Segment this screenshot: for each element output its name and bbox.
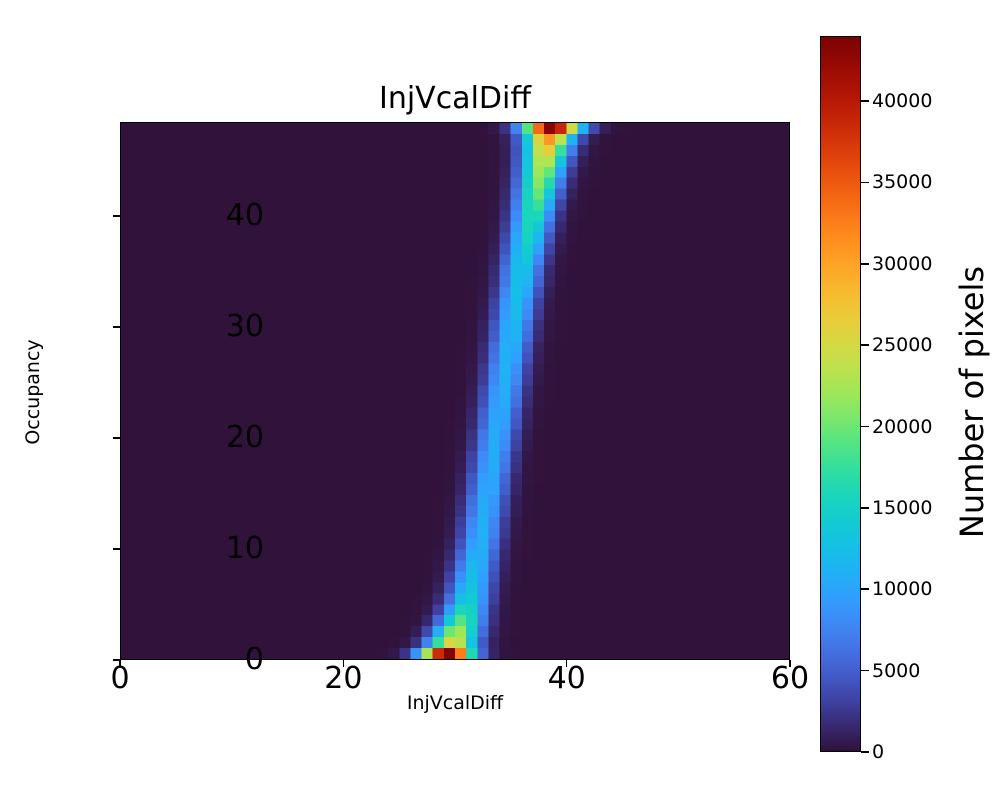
colorbar-tick-mark	[861, 751, 869, 753]
x-tick-label: 40	[548, 662, 586, 696]
colorbar-gradient	[821, 37, 860, 751]
y-tick-mark	[113, 548, 120, 550]
colorbar-label: Number of pixels	[954, 122, 990, 682]
colorbar-tick-mark	[861, 670, 869, 672]
y-tick-mark	[113, 659, 120, 661]
colorbar-tick-label: 25000	[872, 334, 932, 356]
colorbar-tick-label: 35000	[872, 171, 932, 193]
colorbar-tick-mark	[861, 344, 869, 346]
colorbar-tick-label: 0	[872, 741, 884, 763]
colorbar-tick-label: 10000	[872, 578, 932, 600]
plot-title: InjVcalDiff	[120, 82, 790, 116]
colorbar-tick-label: 5000	[872, 660, 920, 682]
colorbar-tick-mark	[861, 588, 869, 590]
y-tick-label: 0	[245, 643, 264, 677]
x-axis-label: InjVcalDiff	[120, 692, 790, 714]
heatmap-image	[121, 123, 789, 659]
x-tick-label: 20	[324, 662, 362, 696]
y-tick-mark	[113, 437, 120, 439]
figure-canvas: InjVcalDiff 0204060 010203040 InjVcalDif…	[0, 0, 1000, 800]
colorbar-tick-label: 30000	[872, 253, 932, 275]
colorbar-tick-mark	[861, 100, 869, 102]
colorbar-tick-mark	[861, 426, 869, 428]
colorbar	[820, 36, 861, 752]
colorbar-tick-mark	[861, 182, 869, 184]
y-tick-mark	[113, 326, 120, 328]
colorbar-tick-label: 40000	[872, 90, 932, 112]
heatmap-axes	[120, 122, 790, 660]
y-tick-label: 10	[226, 532, 264, 566]
y-tick-mark	[113, 215, 120, 217]
y-tick-label: 40	[226, 199, 264, 233]
y-axis-label: Occupancy	[22, 123, 44, 661]
colorbar-tick-label: 20000	[872, 416, 932, 438]
colorbar-tick-label: 15000	[872, 497, 932, 519]
x-tick-label: 60	[771, 662, 809, 696]
y-tick-label: 20	[226, 421, 264, 455]
colorbar-tick-mark	[861, 263, 869, 265]
x-tick-label: 0	[110, 662, 129, 696]
colorbar-tick-mark	[861, 507, 869, 509]
y-tick-label: 30	[226, 310, 264, 344]
